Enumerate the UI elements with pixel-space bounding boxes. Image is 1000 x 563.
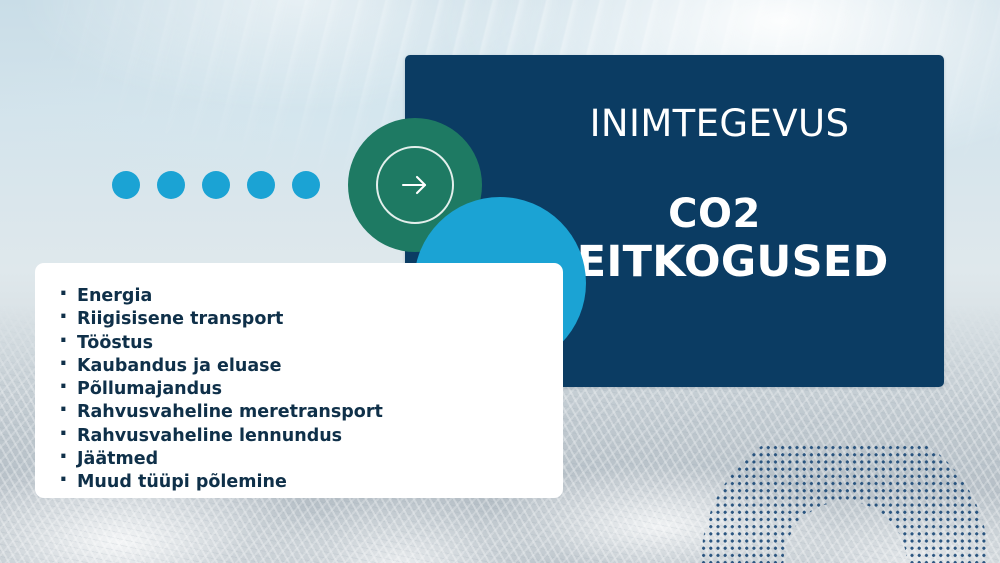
dot-5 <box>292 171 320 199</box>
list-item: Riigisisene transport <box>57 308 563 331</box>
dot-2 <box>157 171 185 199</box>
arrow-ring <box>376 146 454 224</box>
dot-3 <box>202 171 230 199</box>
list-item: Rahvusvaheline lennundus <box>57 425 563 448</box>
list-item: Muud tüüpi põlemine <box>57 471 563 494</box>
list-item: Jäätmed <box>57 448 563 471</box>
list-item: Põllumajandus <box>57 378 563 401</box>
list-item: Tööstus <box>57 332 563 355</box>
slide-eyebrow-label: INIMTEGEVUS <box>405 102 944 145</box>
dot-1 <box>112 171 140 199</box>
list-item: Rahvusvaheline meretransport <box>57 401 563 424</box>
presentation-slide: INIMTEGEVUS CO2 HEITKOGUSED e. Energia R… <box>0 0 1000 563</box>
list-item: Kaubandus ja eluase <box>57 355 563 378</box>
arrow-right-icon <box>393 163 437 207</box>
list-item: Energia <box>57 285 563 308</box>
dot-4 <box>247 171 275 199</box>
dotted-arch-decoration <box>700 444 990 563</box>
emission-source-list: Energia Riigisisene transport Tööstus Ka… <box>35 263 563 495</box>
bullet-list-card: Energia Riigisisene transport Tööstus Ka… <box>35 263 563 498</box>
cyan-dot-row <box>112 171 320 199</box>
